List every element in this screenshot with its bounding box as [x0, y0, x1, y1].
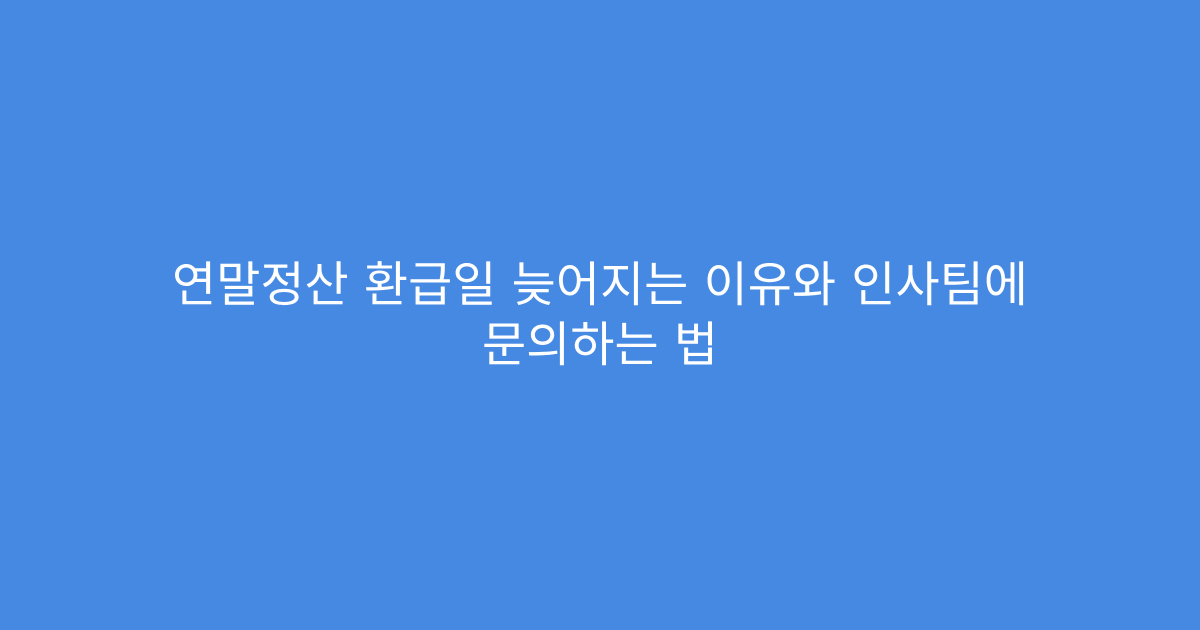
headline-line-2: 문의하는 법 — [140, 315, 1060, 375]
headline-line-1: 연말정산 환급일 늦어지는 이유와 인사팀에 — [140, 255, 1060, 315]
headline-block: 연말정산 환급일 늦어지는 이유와 인사팀에 문의하는 법 — [120, 255, 1080, 375]
thumbnail-card: 연말정산 환급일 늦어지는 이유와 인사팀에 문의하는 법 — [0, 0, 1200, 630]
